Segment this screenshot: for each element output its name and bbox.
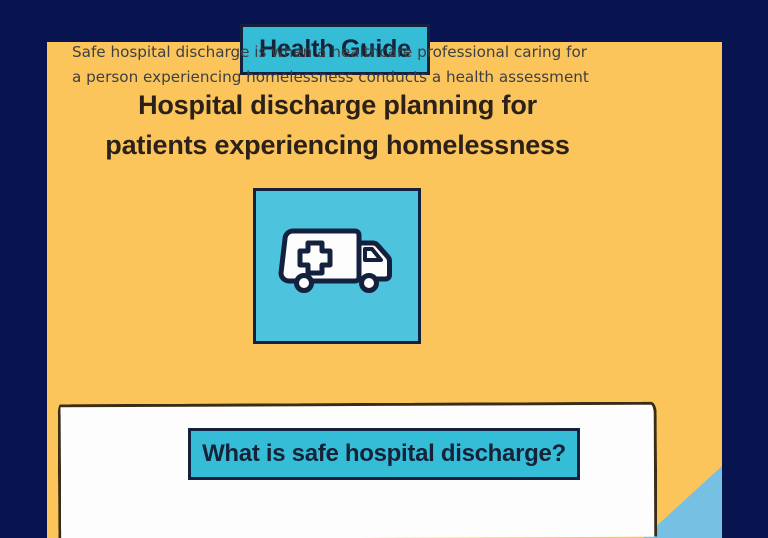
health-guide-poster: Health Guide Hospital discharge planning… xyxy=(0,0,768,538)
page-title-line-1: Hospital discharge planning for xyxy=(30,86,645,126)
card-body-line-1: Safe hospital discharge is when a health… xyxy=(72,40,602,65)
card-body-line-2: a person experiencing homelessness condu… xyxy=(72,65,602,90)
ambulance-icon-tile xyxy=(253,188,421,344)
section-heading-label: What is safe hospital discharge? xyxy=(202,440,566,468)
page-title: Hospital discharge planning for patients… xyxy=(30,86,645,166)
ambulance-icon xyxy=(277,221,397,311)
section-heading-banner: What is safe hospital discharge? xyxy=(188,428,580,480)
page-title-line-2: patients experiencing homelessness xyxy=(30,126,645,166)
card-body-text: Safe hospital discharge is when a health… xyxy=(72,40,602,89)
